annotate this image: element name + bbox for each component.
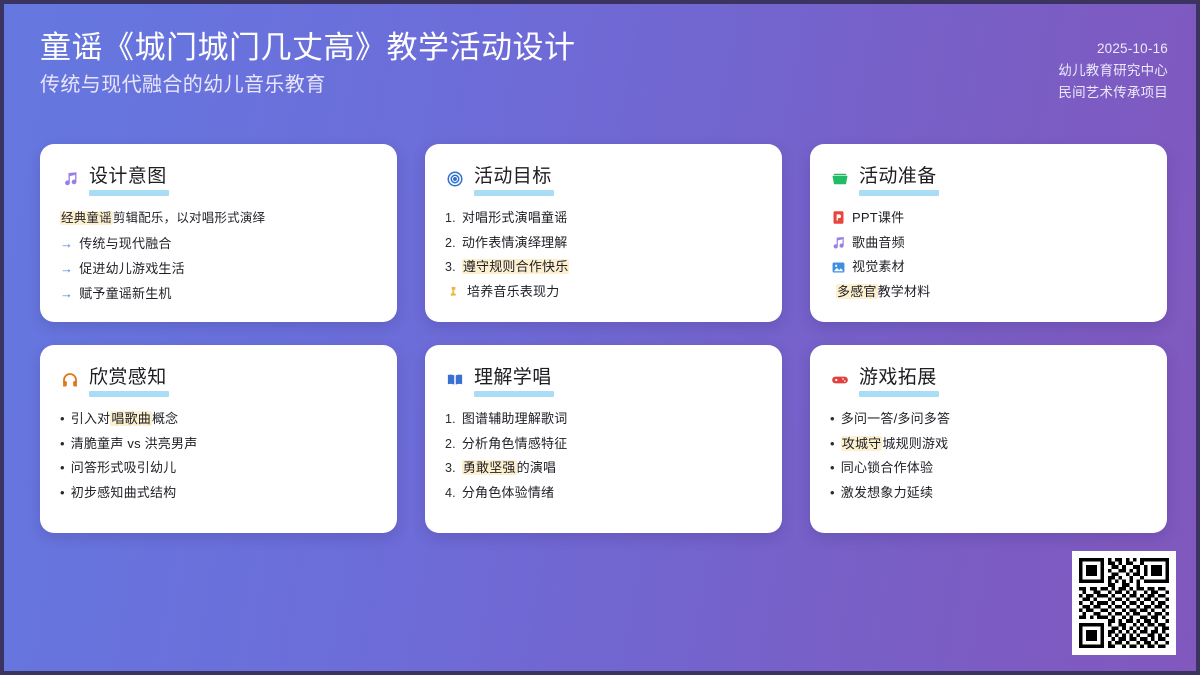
card-header: 设计意图 <box>60 166 377 192</box>
gamepad-icon <box>830 370 850 390</box>
music-note-icon <box>60 169 80 189</box>
item-text: 同心锁合作体验 <box>841 460 933 475</box>
list-item-text: 对唱形式演唱童谣 <box>462 209 568 228</box>
page-title: 童谣《城门城门几丈高》教学活动设计 <box>40 28 576 68</box>
item-text: 分角色体验情绪 <box>462 485 554 500</box>
page-subtitle: 传统与现代融合的幼儿音乐教育 <box>40 72 576 98</box>
list-item-text: 引入对唱歌曲概念 <box>71 410 179 429</box>
list-marker: • <box>60 459 65 478</box>
card-item-list: PPT课件歌曲音频视觉素材多感官教学材料 <box>830 209 1147 302</box>
list-item[interactable]: 3.勇敢坚强的演唱 <box>445 459 762 478</box>
list-item-text: 视觉素材 <box>852 258 905 277</box>
lead-highlight: 经典童谣 <box>60 211 113 225</box>
list-item-text: 遵守规则合作快乐 <box>462 258 570 277</box>
list-item-text: 同心锁合作体验 <box>841 459 933 478</box>
qr-code-container[interactable] <box>1072 551 1176 655</box>
card-header: 活动准备 <box>830 166 1147 192</box>
item-highlight: 多感官 <box>836 284 878 299</box>
list-item[interactable]: •攻城守城规则游戏 <box>830 435 1147 454</box>
item-text: 视觉素材 <box>852 259 905 274</box>
list-marker: 2. <box>445 234 456 252</box>
card-title: 活动准备 <box>859 166 937 192</box>
item-highlight: 攻城守 <box>841 436 883 451</box>
card-item-list: 1.图谱辅助理解歌词2.分析角色情感特征3.勇敢坚强的演唱4.分角色体验情绪 <box>445 410 762 503</box>
list-item-text: 促进幼儿游戏生活 <box>79 260 185 279</box>
item-highlight: 唱歌曲 <box>110 411 152 426</box>
card-activity-goals[interactable]: 活动目标1.对唱形式演唱童谣2.动作表情演绎理解3.遵守规则合作快乐培养音乐表现… <box>425 144 782 322</box>
list-marker: • <box>830 459 835 478</box>
list-marker: → <box>60 285 73 304</box>
list-item-text: 清脆童声 vs 洪亮男声 <box>71 435 198 454</box>
list-item-text: 动作表情演绎理解 <box>462 234 568 253</box>
list-item-text: 激发想象力延续 <box>841 484 933 503</box>
music-note-icon <box>830 235 846 251</box>
image-icon <box>830 259 846 275</box>
list-item-text: 歌曲音频 <box>852 234 905 253</box>
list-item-text: PPT课件 <box>852 209 904 228</box>
header-date: 2025-10-16 <box>1058 38 1168 60</box>
list-item[interactable]: 2.分析角色情感特征 <box>445 435 762 454</box>
item-text: 促进幼儿游戏生活 <box>79 261 185 276</box>
card-header: 活动目标 <box>445 166 762 192</box>
list-item[interactable]: →赋予童谣新生机 <box>60 285 377 304</box>
list-marker: → <box>60 235 73 254</box>
open-book-icon <box>445 370 465 390</box>
item-text: 对唱形式演唱童谣 <box>462 210 568 225</box>
card-item-list: 1.对唱形式演唱童谣2.动作表情演绎理解3.遵守规则合作快乐培养音乐表现力 <box>445 209 762 302</box>
list-marker: → <box>60 260 73 279</box>
list-marker: • <box>60 435 65 454</box>
list-item[interactable]: •同心锁合作体验 <box>830 459 1147 478</box>
item-text: 动作表情演绎理解 <box>462 235 568 250</box>
list-marker: 3. <box>445 258 456 276</box>
card-title: 欣赏感知 <box>89 367 167 393</box>
list-item-text: 多问一答/多问多答 <box>841 410 950 429</box>
item-text: 激发想象力延续 <box>841 485 933 500</box>
lead-post: 剪辑配乐，以对唱形式演绎 <box>113 211 265 225</box>
card-title: 设计意图 <box>89 166 167 192</box>
ppt-file-icon <box>830 210 846 226</box>
item-text: 多问一答/多问多答 <box>841 411 950 426</box>
card-activity-prep[interactable]: 活动准备PPT课件歌曲音频视觉素材多感官教学材料 <box>810 144 1167 322</box>
qr-code <box>1079 558 1169 648</box>
list-item[interactable]: •清脆童声 vs 洪亮男声 <box>60 435 377 454</box>
card-header: 欣赏感知 <box>60 367 377 393</box>
item-text: 传统与现代融合 <box>79 236 171 251</box>
item-text: 图谱辅助理解歌词 <box>462 411 568 426</box>
card-design-intent[interactable]: 设计意图经典童谣剪辑配乐，以对唱形式演绎→传统与现代融合→促进幼儿游戏生活→赋予… <box>40 144 397 322</box>
item-pre: 引入对 <box>71 411 111 426</box>
item-text: 清脆童声 vs 洪亮男声 <box>71 436 198 451</box>
list-item-text: 赋予童谣新生机 <box>79 285 171 304</box>
item-text: 概念 <box>152 411 178 426</box>
list-item-text: 分析角色情感特征 <box>462 435 568 454</box>
list-marker: • <box>830 435 835 454</box>
slide-root: 童谣《城门城门几丈高》教学活动设计 传统与现代融合的幼儿音乐教育 2025-10… <box>0 0 1200 675</box>
card-title: 游戏拓展 <box>859 367 937 393</box>
list-marker: 1. <box>445 209 456 227</box>
item-highlight: 遵守规则合作快乐 <box>462 259 570 274</box>
list-marker: • <box>60 484 65 503</box>
card-item-list: •引入对唱歌曲概念•清脆童声 vs 洪亮男声•问答形式吸引幼儿•初步感知曲式结构 <box>60 410 377 503</box>
list-item[interactable]: 多感官教学材料 <box>830 283 1147 302</box>
item-text: 培养音乐表现力 <box>467 284 559 299</box>
list-item[interactable]: 3.遵守规则合作快乐 <box>445 258 762 277</box>
trophy-icon <box>445 284 461 300</box>
list-marker: 1. <box>445 410 456 428</box>
list-marker: • <box>830 484 835 503</box>
header-left-block: 童谣《城门城门几丈高》教学活动设计 传统与现代融合的幼儿音乐教育 <box>40 28 576 98</box>
list-item-text: 问答形式吸引幼儿 <box>71 459 177 478</box>
item-text: 城规则游戏 <box>882 436 948 451</box>
list-item[interactable]: 2.动作表情演绎理解 <box>445 234 762 253</box>
list-item[interactable]: •初步感知曲式结构 <box>60 484 377 503</box>
list-item-text: 勇敢坚强的演唱 <box>462 459 556 478</box>
item-text: 赋予童谣新生机 <box>79 286 171 301</box>
box-icon <box>830 169 850 189</box>
list-marker: • <box>60 410 65 429</box>
list-item-text: 多感官教学材料 <box>836 283 930 302</box>
list-marker: • <box>830 410 835 429</box>
item-text: 分析角色情感特征 <box>462 436 568 451</box>
list-item-text: 图谱辅助理解歌词 <box>462 410 568 429</box>
header-organization: 幼儿教育研究中心 <box>1058 60 1168 82</box>
list-item[interactable]: 歌曲音频 <box>830 234 1147 253</box>
card-understand-sing[interactable]: 理解学唱1.图谱辅助理解歌词2.分析角色情感特征3.勇敢坚强的演唱4.分角色体验… <box>425 345 782 533</box>
card-lead-text: 经典童谣剪辑配乐，以对唱形式演绎 <box>60 209 377 227</box>
list-item[interactable]: •多问一答/多问多答 <box>830 410 1147 429</box>
list-item[interactable]: 4.分角色体验情绪 <box>445 484 762 503</box>
list-item-text: 培养音乐表现力 <box>467 283 559 302</box>
list-item[interactable]: →促进幼儿游戏生活 <box>60 260 377 279</box>
list-marker: 3. <box>445 459 456 477</box>
card-title: 活动目标 <box>474 166 552 192</box>
list-marker: 4. <box>445 484 456 502</box>
card-appreciate-perceive[interactable]: 欣赏感知•引入对唱歌曲概念•清脆童声 vs 洪亮男声•问答形式吸引幼儿•初步感知… <box>40 345 397 533</box>
target-icon <box>445 169 465 189</box>
item-text: 初步感知曲式结构 <box>71 485 177 500</box>
slide-header: 童谣《城门城门几丈高》教学活动设计 传统与现代融合的幼儿音乐教育 2025-10… <box>4 4 1200 126</box>
item-highlight: 勇敢坚强 <box>462 460 517 475</box>
card-header: 理解学唱 <box>445 367 762 393</box>
list-item[interactable]: 培养音乐表现力 <box>445 283 762 302</box>
header-meta: 2025-10-16 幼儿教育研究中心 民间艺术传承项目 <box>1058 38 1168 104</box>
list-item[interactable]: 视觉素材 <box>830 258 1147 277</box>
list-item[interactable]: •激发想象力延续 <box>830 484 1147 503</box>
item-text: 的演唱 <box>517 460 557 475</box>
list-marker: 2. <box>445 435 456 453</box>
list-item[interactable]: PPT课件 <box>830 209 1147 228</box>
headphone-icon <box>60 370 80 390</box>
card-item-list: •多问一答/多问多答•攻城守城规则游戏•同心锁合作体验•激发想象力延续 <box>830 410 1147 503</box>
list-item-text: 分角色体验情绪 <box>462 484 554 503</box>
list-item-text: 传统与现代融合 <box>79 235 171 254</box>
card-header: 游戏拓展 <box>830 367 1147 393</box>
item-text: 歌曲音频 <box>852 235 905 250</box>
list-item[interactable]: •引入对唱歌曲概念 <box>60 410 377 429</box>
card-game-extension[interactable]: 游戏拓展•多问一答/多问多答•攻城守城规则游戏•同心锁合作体验•激发想象力延续 <box>810 345 1167 533</box>
header-project: 民间艺术传承项目 <box>1058 82 1168 104</box>
list-item[interactable]: •问答形式吸引幼儿 <box>60 459 377 478</box>
list-item[interactable]: →传统与现代融合 <box>60 235 377 254</box>
item-text: 问答形式吸引幼儿 <box>71 460 177 475</box>
list-item-text: 攻城守城规则游戏 <box>841 435 949 454</box>
list-item-text: 初步感知曲式结构 <box>71 484 177 503</box>
card-title: 理解学唱 <box>474 367 552 393</box>
item-text: PPT课件 <box>852 210 904 225</box>
card-grid: 设计意图经典童谣剪辑配乐，以对唱形式演绎→传统与现代融合→促进幼儿游戏生活→赋予… <box>40 144 1168 533</box>
card-item-list: →传统与现代融合→促进幼儿游戏生活→赋予童谣新生机 <box>60 235 377 304</box>
list-item[interactable]: 1.对唱形式演唱童谣 <box>445 209 762 228</box>
item-text: 教学材料 <box>878 284 931 299</box>
list-item[interactable]: 1.图谱辅助理解歌词 <box>445 410 762 429</box>
